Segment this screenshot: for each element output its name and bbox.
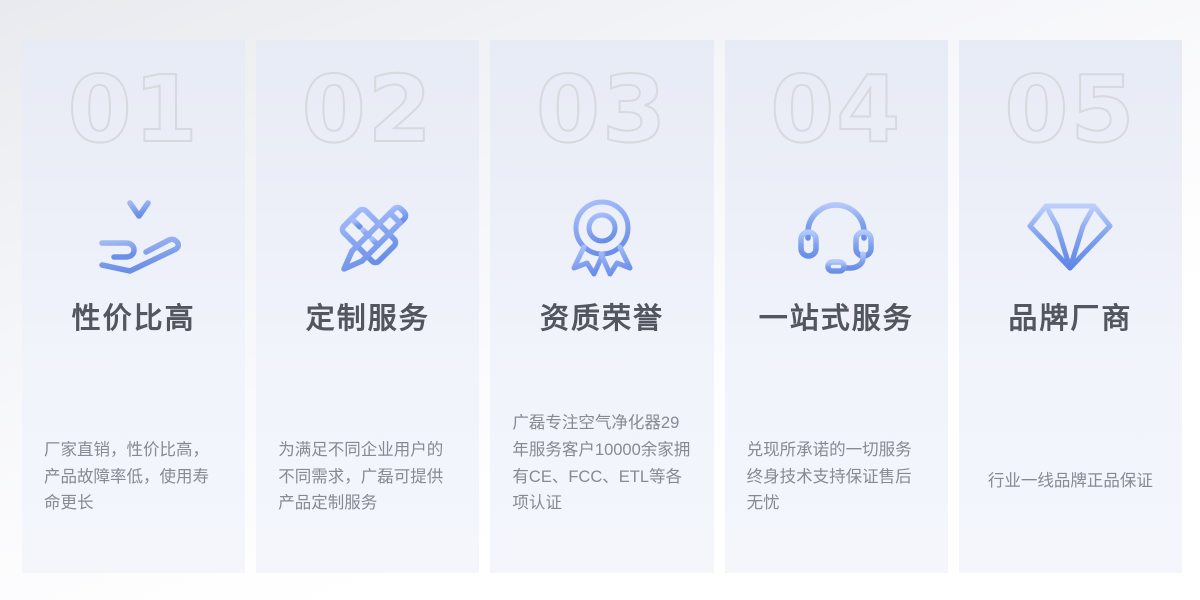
card-number-badge: 05 [1004,64,1136,156]
card-number-badge: 04 [770,64,902,156]
card-description: 厂家直销，性价比高，产品故障率低，使用寿命更长 [22,437,245,517]
feature-card[interactable]: 02 [256,40,479,573]
card-title: 资质荣誉 [540,302,664,337]
feature-card-content: 05 [959,40,1182,573]
card-number-badge: 02 [302,64,434,156]
card-title: 一站式服务 [759,302,914,337]
pen-ruler-icon [313,192,423,280]
feature-card-content: 03 [490,40,713,573]
headset-icon [781,192,891,280]
card-description: 为满足不同企业用户的不同需求，广磊可提供产品定制服务 [256,437,479,517]
feature-card[interactable]: 04 [725,40,948,573]
card-description: 广磊专注空气净化器29年服务客户10000余家拥有CE、FCC、ETL等各项认证 [490,410,713,517]
card-title: 定制服务 [306,302,430,337]
feature-card[interactable]: 03 [490,40,713,573]
card-title: 品牌厂商 [1008,302,1132,337]
card-title: 性价比高 [72,302,196,337]
feature-card[interactable]: 01 [22,40,245,573]
feature-highlights-page: 01 [0,0,1200,600]
card-description: 兑现所承诺的一切服务终身技术支持保证售后无忧 [725,437,948,517]
diamond-icon [1015,192,1125,280]
card-number-badge: 03 [536,64,668,156]
award-medal-icon [547,192,657,280]
feature-card-content: 01 [22,40,245,573]
feature-card-content: 02 [256,40,479,573]
feature-card-list: 01 [22,40,1182,573]
feature-card[interactable]: 05 [959,40,1182,573]
hand-holding-yuan-icon [79,192,189,280]
card-number-badge: 01 [68,64,200,156]
feature-card-content: 04 [725,40,948,573]
card-description: 行业一线品牌正品保证 [959,468,1182,495]
